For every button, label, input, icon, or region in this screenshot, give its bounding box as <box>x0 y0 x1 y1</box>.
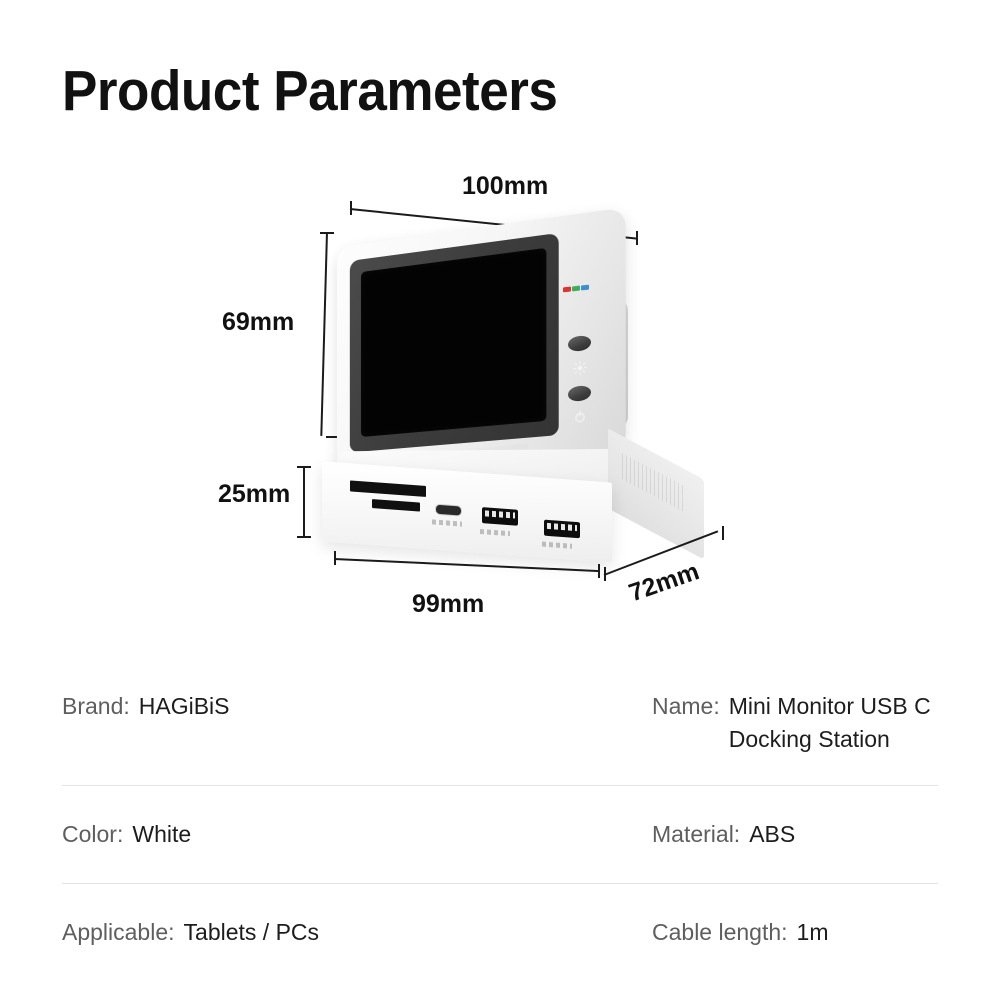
microsd-card-slot <box>372 499 420 512</box>
dimension-label-dock-width: 99mm <box>412 590 484 619</box>
dimension-cap-bottom-dock-height <box>297 536 311 538</box>
power-icon <box>573 409 587 424</box>
spec-cell-cable-length: Cable length: 1m <box>652 916 938 949</box>
usb-a-port-marking <box>542 542 572 549</box>
usb-c-port <box>435 504 462 517</box>
dimension-line-dock-height <box>303 466 305 538</box>
spec-label-applicable: Applicable: <box>62 916 175 949</box>
usb-c-port-marking <box>432 519 462 526</box>
dimension-cap-top-dock-height <box>297 466 311 468</box>
spec-label-name: Name: <box>652 690 720 723</box>
spec-cell-name: Name: Mini Monitor USB C Docking Station <box>652 690 938 755</box>
dimension-label-monitor-width: 100mm <box>462 172 548 201</box>
brightness-icon <box>573 360 587 375</box>
spec-value-color: White <box>132 818 191 851</box>
dimension-label-dock-height: 25mm <box>218 480 290 509</box>
usb-a-port <box>544 520 580 539</box>
spec-cell-color: Color: White <box>62 818 652 851</box>
spec-value-applicable: Tablets / PCs <box>184 916 320 949</box>
spec-table: Brand: HAGiBiS Name: Mini Monitor USB C … <box>0 668 1000 959</box>
product-figure: 100mm 69mm 25mm <box>0 150 1000 650</box>
spec-label-cable-length: Cable length: <box>652 916 788 949</box>
dimension-cap-left-monitor-width <box>350 201 352 215</box>
spec-cell-brand: Brand: HAGiBiS <box>62 690 652 755</box>
dimension-cap-right-dock-width <box>598 564 600 578</box>
dimension-cap-left-dock-width <box>334 551 336 565</box>
dimension-cap-near-dock-depth <box>604 567 606 581</box>
spec-label-brand: Brand: <box>62 690 130 723</box>
spec-value-material: ABS <box>749 818 795 851</box>
spec-cell-applicable: Applicable: Tablets / PCs <box>62 916 652 949</box>
page-title: Product Parameters <box>62 60 557 123</box>
spec-row: Color: White Material: ABS <box>62 786 938 883</box>
dimension-cap-far-dock-depth <box>722 526 724 540</box>
spec-row: Applicable: Tablets / PCs Cable length: … <box>62 884 938 959</box>
monitor-bezel <box>350 233 559 453</box>
sd-card-slot <box>350 480 426 497</box>
led-blue-icon <box>581 285 589 291</box>
spec-value-name: Mini Monitor USB C Docking Station <box>729 690 938 755</box>
led-red-icon <box>563 287 571 293</box>
spec-value-brand: HAGiBiS <box>139 690 230 723</box>
spec-value-cable-length: 1m <box>797 916 829 949</box>
usb-a-port <box>482 507 518 526</box>
monitor-screen <box>361 248 546 437</box>
dimension-label-monitor-height: 69mm <box>222 308 294 337</box>
spec-label-color: Color: <box>62 818 123 851</box>
spec-row: Brand: HAGiBiS Name: Mini Monitor USB C … <box>62 668 938 785</box>
spec-cell-material: Material: ABS <box>652 818 938 851</box>
dimension-line-monitor-height <box>320 232 328 436</box>
usb-a-port-marking <box>480 529 510 536</box>
spec-label-material: Material: <box>652 818 740 851</box>
led-green-icon <box>572 286 580 292</box>
